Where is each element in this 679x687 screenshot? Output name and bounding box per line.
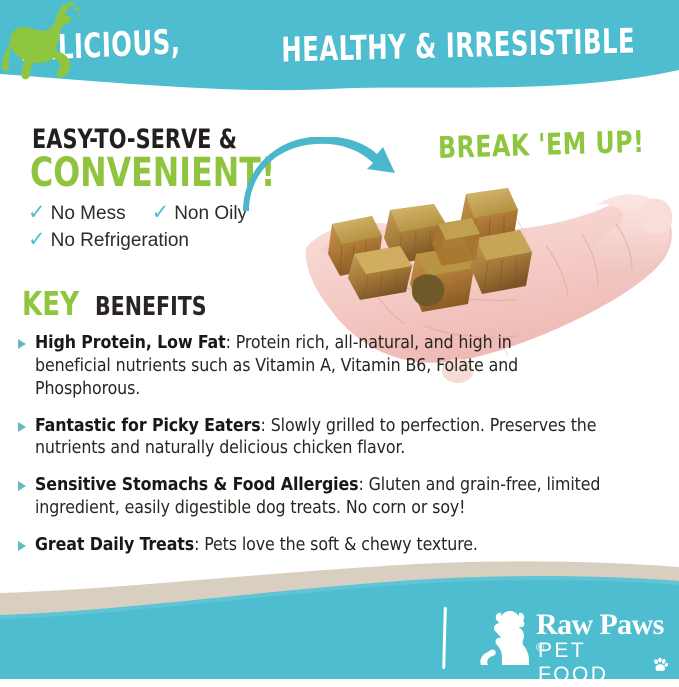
brand-subtitle: PET FOOD [538,639,648,687]
benefit-text: Fantastic for Picky Eaters: Slowly grill… [35,415,659,461]
header-banner: DELICIOUS, HEALTHY & IRRESISTIBLE [0,0,679,104]
brand-sub-wrap: PET FOOD [538,639,668,687]
brand-name: Raw Paws [536,608,664,642]
check-item-no-refrigeration: ✓ No Refrigeration [28,229,189,252]
check-item-non-oily: ✓ Non Oily [152,202,247,225]
check-label: No Refrigeration [51,230,189,252]
benefit-title: High Protein, Low Fat [35,333,226,353]
benefit-body: : Pets love the soft & chewy texture. [194,535,478,555]
list-item: High Protein, Low Fat: Protein rich, all… [18,332,666,401]
checkmark-icon: ✓ [28,229,46,250]
check-row: ✓ No Refrigeration [28,229,298,252]
checkmark-icon: ✓ [28,202,46,223]
benefits-list: High Protein, Low Fat: Protein rich, all… [18,332,666,571]
benefit-text: Great Daily Treats: Pets love the soft &… [35,534,478,557]
key-benefits-heading: KEY BENEFITS [22,284,222,323]
list-item: Fantastic for Picky Eaters: Slowly grill… [18,415,666,461]
check-item-no-mess: ✓ No Mess [28,202,126,225]
convenient-heading: CONVENIENT! [30,150,275,196]
dog-and-cat-silhouette-icon [478,610,540,666]
key-word: KEY [22,284,79,323]
triangle-bullet-icon [18,339,26,349]
brand-logo[interactable]: Raw Paws® PET FOOD [478,606,668,668]
benefit-title: Fantastic for Picky Eaters [35,416,261,436]
checkmark-icon: ✓ [152,202,170,223]
list-item: Great Daily Treats: Pets love the soft &… [18,534,666,557]
benefit-text: High Protein, Low Fat: Protein rich, all… [35,332,565,401]
triangle-bullet-icon [18,481,26,491]
dog-silhouette-icon [0,0,92,86]
triangle-bullet-icon [18,541,26,551]
check-label: Non Oily [174,203,247,225]
benefit-text: Sensitive Stomachs & Food Allergies: Glu… [35,474,659,520]
header-title-row: DELICIOUS, HEALTHY & IRRESISTIBLE [0,16,679,76]
benefit-title: Great Daily Treats [35,535,194,555]
benefits-word: BENEFITS [95,292,207,322]
list-item: Sensitive Stomachs & Food Allergies: Glu… [18,474,666,520]
check-label: No Mess [51,203,126,225]
header-title-right: HEALTHY & IRRESISTIBLE [281,21,635,70]
paw-print-icon [652,655,668,674]
triangle-bullet-icon [18,422,26,432]
benefit-title: Sensitive Stomachs & Food Allergies [35,475,358,495]
break-em-up-callout: BREAK 'EM UP! [438,125,645,166]
